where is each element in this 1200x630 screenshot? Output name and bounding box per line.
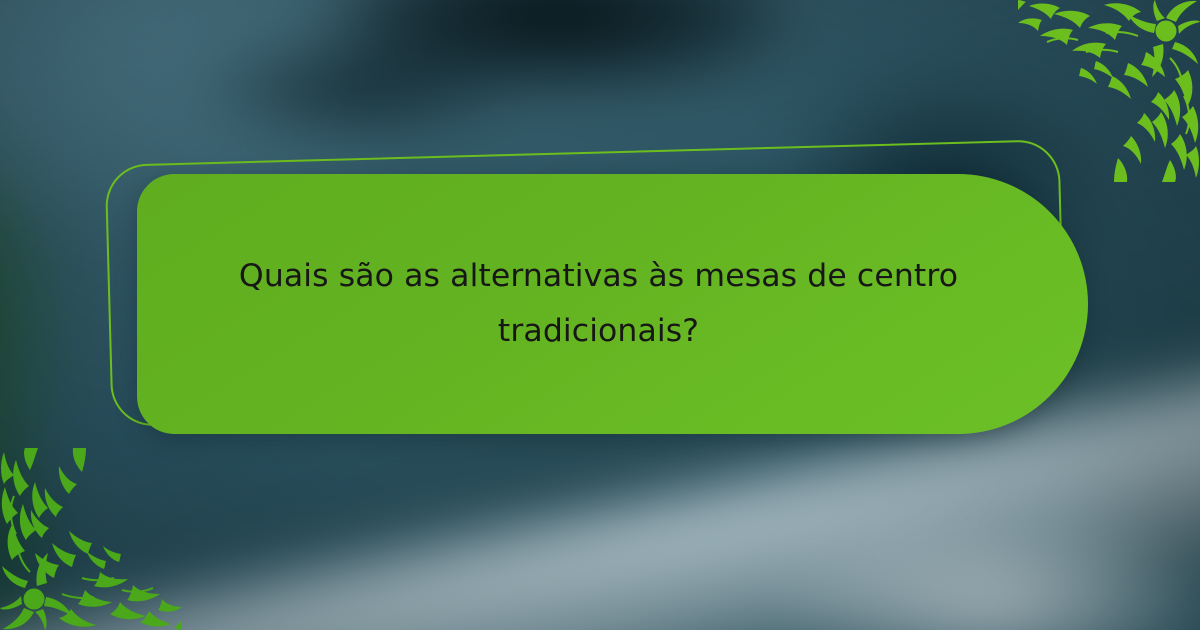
question-title: Quais são as alternativas às mesas de ce… [219,249,979,359]
bottom-left-floral-ornament-icon [0,448,182,630]
question-card: Quais são as alternativas às mesas de ce… [137,174,1088,434]
question-card-banner: Quais são as alternativas às mesas de ce… [0,0,1200,630]
